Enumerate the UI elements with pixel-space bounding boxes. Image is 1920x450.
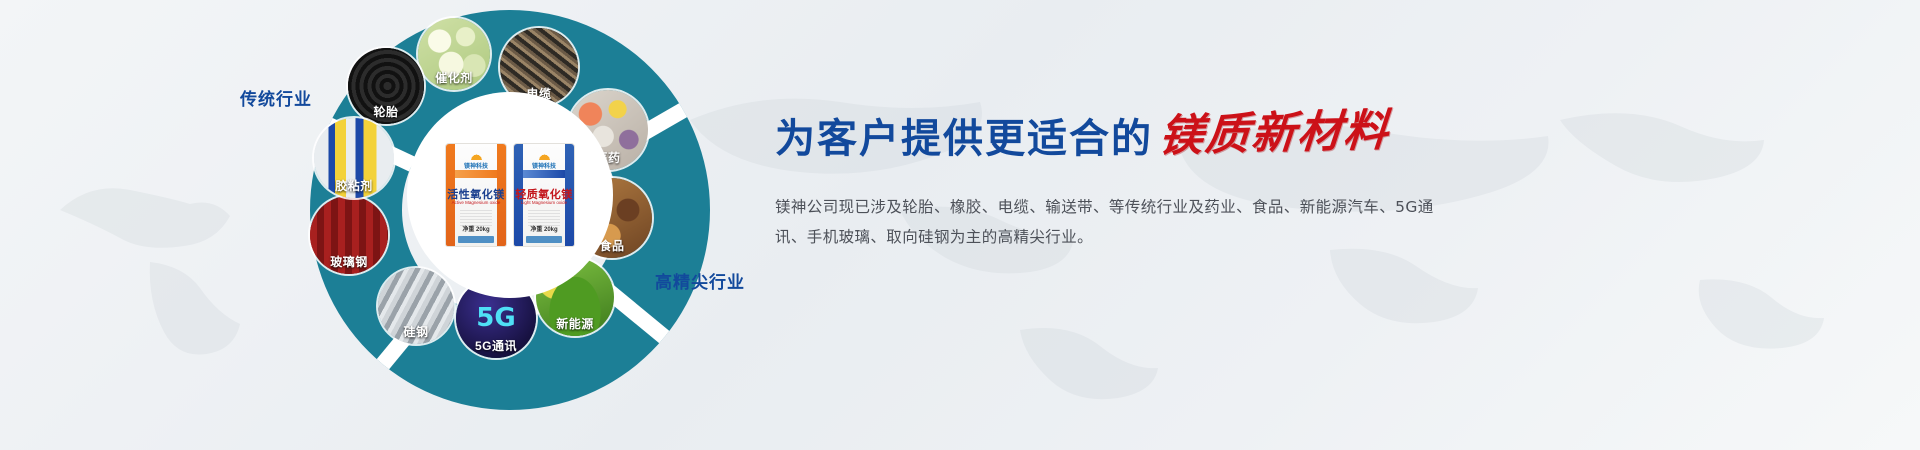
sun-logo-icon-2	[538, 153, 551, 160]
banner-description: 镁神公司现已涉及轮胎、橡胶、电缆、输送带、等传统行业及药业、食品、新能源汽车、5…	[775, 192, 1465, 252]
industry-ring-diagram: 催化剂 轮胎 电缆 医药 食品 新能源 5G 5G通讯 硅钢	[300, 0, 720, 420]
ring-node-catalyst[interactable]: 催化剂	[418, 18, 490, 90]
diagram-label-high-tech: 高精尖行业	[655, 268, 745, 293]
headline-row: 为客户提供更适合的 镁质新材料	[775, 100, 1495, 164]
diagram-label-traditional: 传统行业	[240, 85, 312, 110]
bag-band-right	[523, 170, 565, 178]
bag-footer-left	[458, 236, 494, 243]
promo-banner: 催化剂 轮胎 电缆 医药 食品 新能源 5G 5G通讯 硅钢	[0, 0, 1920, 450]
bag-brand-right: 镁神科技	[514, 153, 574, 170]
ring-node-frp[interactable]: 玻璃钢	[310, 196, 388, 274]
node-label-catalyst: 催化剂	[418, 69, 490, 86]
bag-product-name-en-right: Light Magnesium oxide	[514, 200, 574, 205]
bag-footer-right	[526, 236, 562, 243]
node-label-5g: 5G通讯	[456, 337, 536, 354]
headline-primary: 为客户提供更适合的	[775, 106, 1153, 164]
bag-brand-left: 镁神科技	[446, 153, 506, 170]
headline-highlight: 镁质新材料	[1157, 94, 1393, 164]
node-label-frp: 玻璃钢	[310, 253, 388, 270]
product-bag-light-mgo: 镁神科技 轻质氧化镁 Light Magnesium oxide 净重 20kg	[513, 143, 575, 247]
node-label-newenergy: 新能源	[536, 315, 614, 332]
sun-logo-icon	[470, 153, 483, 160]
node-label-silicon-steel: 硅钢	[378, 323, 454, 340]
ring-node-adhesive[interactable]: 胶粘剂	[314, 118, 394, 198]
product-showcase: 镁神科技 活性氧化镁 Active Magnesium oxide 净重 20k…	[410, 95, 610, 295]
bag-band-left	[455, 170, 497, 178]
node-label-adhesive: 胶粘剂	[314, 177, 394, 194]
ring-node-tire[interactable]: 轮胎	[348, 48, 424, 124]
banner-copy: 为客户提供更适合的 镁质新材料 镁神公司现已涉及轮胎、橡胶、电缆、输送带、等传统…	[775, 100, 1495, 252]
ring-node-silicon-steel[interactable]: 硅钢	[378, 268, 454, 344]
bag-product-name-en-left: Active Magnesium oxide	[446, 200, 506, 205]
bag-weight-right: 净重 20kg	[514, 224, 574, 233]
bag-weight-left: 净重 20kg	[446, 224, 506, 233]
product-bag-active-mgo: 镁神科技 活性氧化镁 Active Magnesium oxide 净重 20k…	[445, 143, 507, 247]
